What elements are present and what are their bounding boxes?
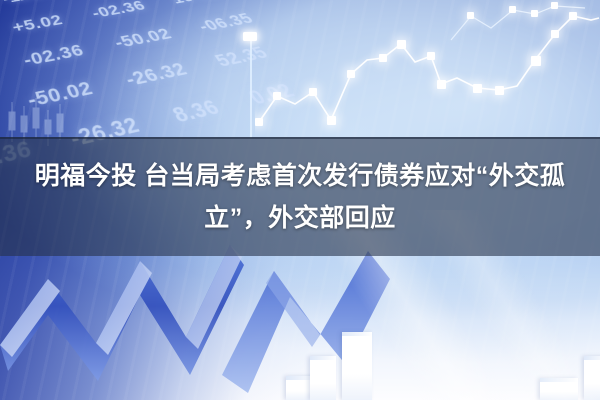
- headline-line-1: 明福今投 台当局考虑首次发行债券应对“外交孤: [35, 156, 565, 196]
- ticker-number: +5.02: [10, 12, 65, 37]
- glow-pole: [232, 18, 272, 138]
- chart-bar: [310, 356, 336, 400]
- ticker-number: -50.02: [111, 25, 176, 52]
- chart-bar: [540, 378, 578, 400]
- chart-bar: [584, 356, 600, 400]
- ticker-number: 10.02: [168, 0, 222, 7]
- headline-block: 明福今投 台当局考虑首次发行债券应对“外交孤 立”，外交部回应: [0, 137, 600, 256]
- news-banner: -50.02 -02.36 -11.25 +5.02 21.36 2.35 -1…: [0, 0, 600, 400]
- headline-line-2: 立”，外交部回应: [204, 198, 396, 238]
- chart-bar: [342, 332, 372, 400]
- ticker-number: 8.36: [168, 96, 225, 129]
- ticker-number: -02.36: [89, 0, 150, 22]
- ticker-number: -26.32: [121, 59, 191, 91]
- ticker-number: -11.25: [1, 0, 57, 7]
- ticker-number: -02.36: [21, 41, 87, 71]
- glow-line-chart: [255, 0, 600, 150]
